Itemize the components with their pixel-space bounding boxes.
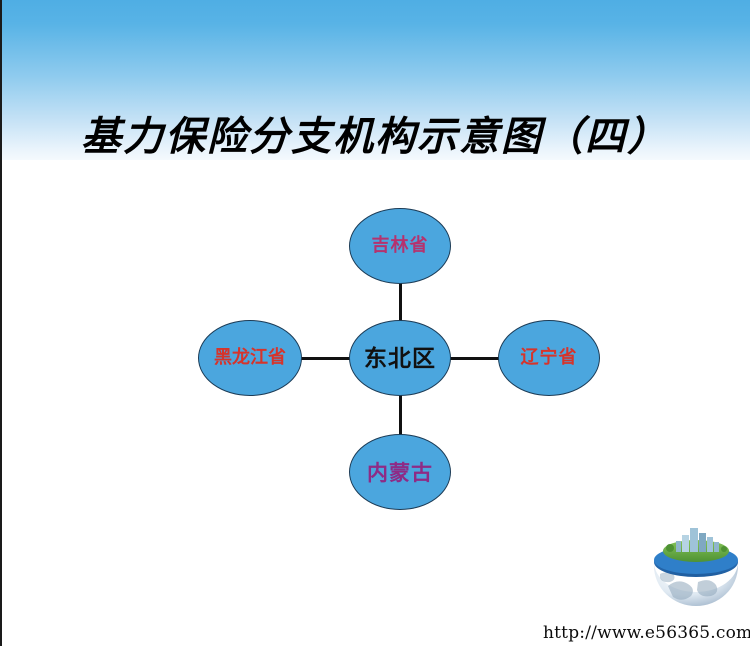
node-heilongjiang-label: 黑龙江省 (214, 349, 286, 367)
edge-center-to-bottom (399, 394, 402, 436)
watermark-url: http://www.e56365.com (533, 623, 750, 643)
slideshow-nav-toolbar[interactable] (10, 614, 120, 636)
pen-icon[interactable] (38, 617, 56, 633)
node-liaoning[interactable]: 辽宁省 (498, 320, 600, 396)
page-icon[interactable] (66, 617, 84, 633)
slide-canvas: 基力保险分支机构示意图（四） 东北区 吉林省 黑龙江省 辽宁省 内蒙古 (0, 0, 750, 646)
org-chart-diagram: 东北区 吉林省 黑龙江省 辽宁省 内蒙古 (0, 0, 750, 646)
node-center-label: 东北区 (364, 347, 436, 370)
node-heilongjiang[interactable]: 黑龙江省 (198, 320, 302, 396)
edge-center-to-left (300, 357, 352, 360)
globe-city-icon (646, 524, 746, 616)
node-jilin-label: 吉林省 (372, 237, 429, 255)
back-arrow-icon[interactable] (10, 617, 28, 633)
node-inner-mongolia-label: 内蒙古 (367, 462, 433, 483)
node-center-northeast[interactable]: 东北区 (349, 320, 451, 396)
watermark-banner: http://www.e56365.com (533, 619, 750, 646)
forward-arrow-icon[interactable] (94, 617, 112, 633)
edge-center-to-top (399, 282, 402, 324)
node-liaoning-label: 辽宁省 (521, 349, 578, 367)
node-inner-mongolia[interactable]: 内蒙古 (349, 434, 451, 510)
edge-center-to-right (448, 357, 500, 360)
node-jilin[interactable]: 吉林省 (349, 208, 451, 284)
